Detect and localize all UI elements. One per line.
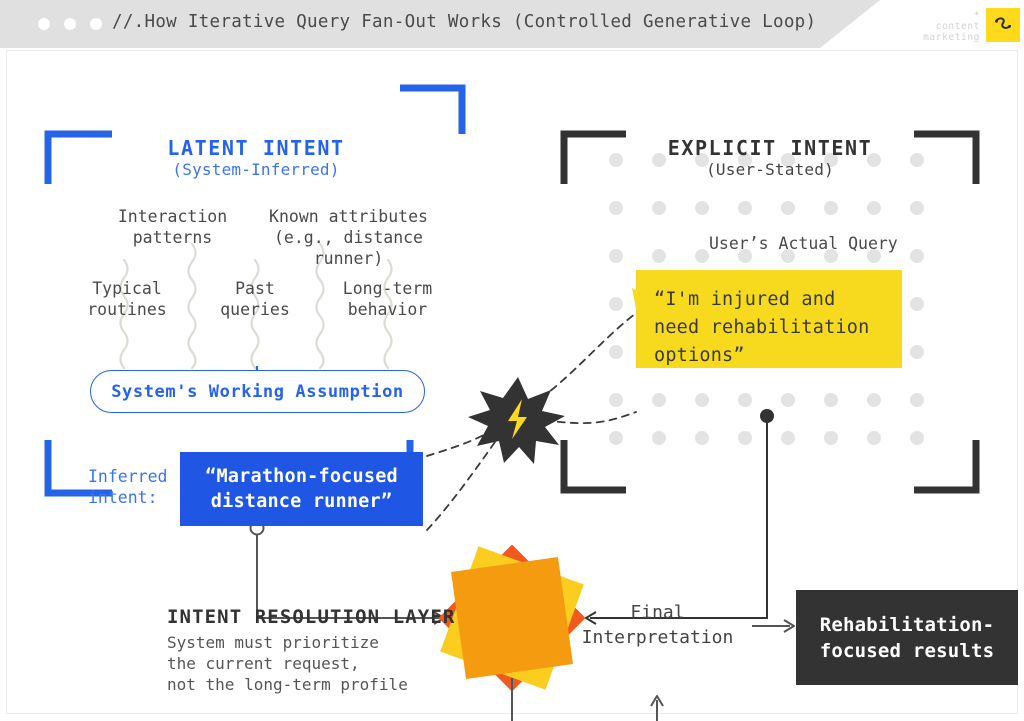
signal-known-attributes: Known attributes (e.g., distance runner)	[256, 206, 441, 269]
signal-past-queries: Past queries	[205, 278, 305, 320]
inferred-intent-box: “Marathon-focused distance runner”	[180, 452, 423, 526]
intent-resolution-title: INTENT RESOLUTION LAYER	[167, 606, 455, 628]
user-query-box: “I'm injured and need rehabilitation opt…	[636, 270, 902, 368]
window-titlebar: //.How Iterative Query Fan-Out Works (Co…	[0, 0, 1024, 48]
brand-wordmark: + content marketing	[923, 9, 980, 43]
final-interpretation-label: Final Interpretation	[570, 600, 745, 650]
user-query-caption: User’s Actual Query	[709, 234, 898, 253]
results-box: Rehabilitation- focused results	[796, 590, 1018, 685]
latent-panel-title: LATENT INTENT	[48, 136, 464, 160]
diagram-canvas: LATENT INTENT (System-Inferred) Interact…	[0, 48, 1024, 721]
window-title: //.How Iterative Query Fan-Out Works (Co…	[112, 12, 816, 32]
explicit-panel-subtitle: (User-Stated)	[564, 160, 976, 179]
signal-typical-routines: Typical routines	[72, 278, 182, 320]
close-icon[interactable]	[38, 18, 50, 30]
window-controls[interactable]	[38, 18, 102, 30]
explicit-panel-title: EXPLICIT INTENT	[564, 136, 976, 160]
intent-resolution-body: System must prioritize the current reque…	[167, 632, 408, 695]
diagram-page: //.How Iterative Query Fan-Out Works (Co…	[0, 0, 1024, 721]
swirl-icon	[986, 8, 1020, 42]
system-working-assumption-pill[interactable]: System's Working Assumption	[90, 370, 425, 413]
signal-long-term-behavior: Long-term behavior	[330, 278, 445, 320]
brand-line-2: marketing	[923, 32, 980, 43]
minimize-icon[interactable]	[64, 18, 76, 30]
maximize-icon[interactable]	[90, 18, 102, 30]
signal-interaction-patterns: Interaction patterns	[100, 206, 245, 248]
brand-plus: +	[923, 9, 980, 20]
brand-line-1: content	[936, 21, 980, 32]
inferred-intent-label: Inferred intent:	[88, 466, 167, 508]
latent-panel-subtitle: (System-Inferred)	[48, 160, 464, 179]
